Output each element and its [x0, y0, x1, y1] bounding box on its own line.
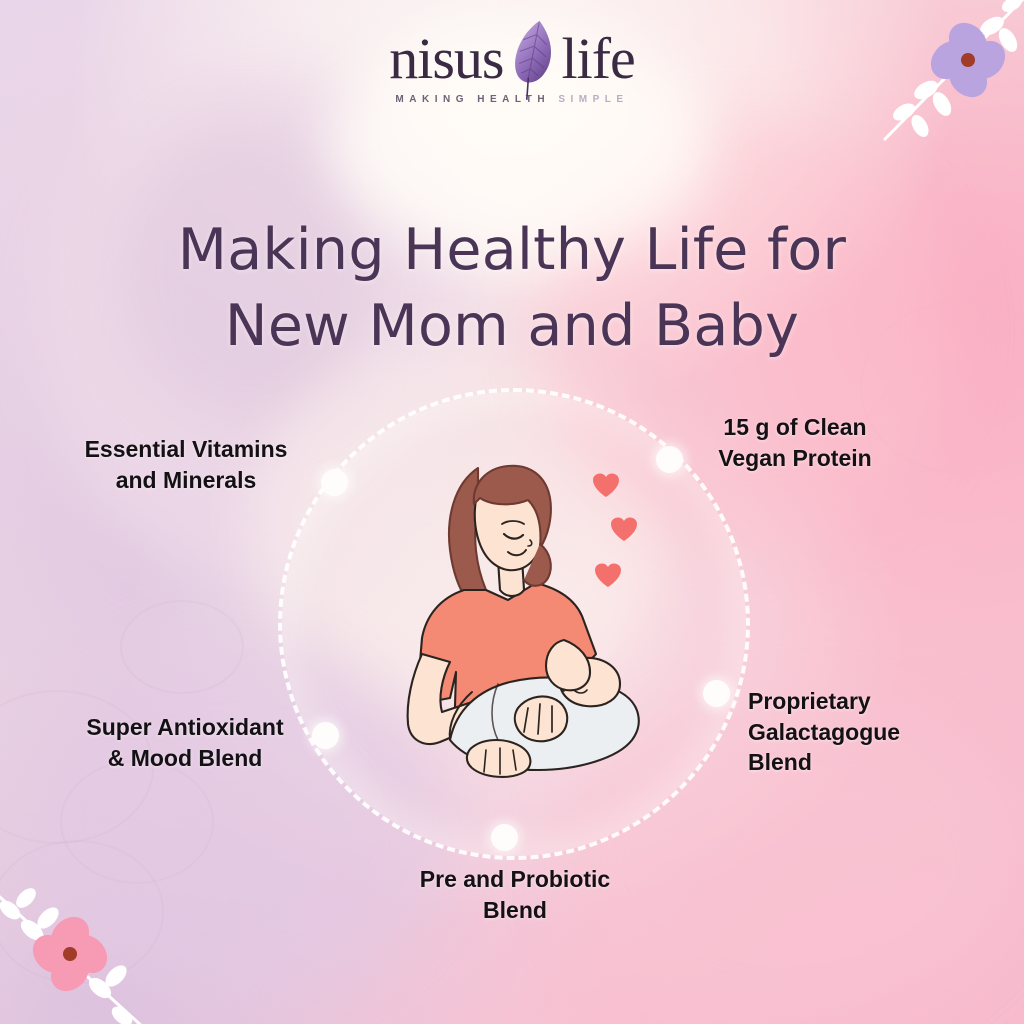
benefit-label-vitamins: Essential Vitamins and Minerals [48, 434, 324, 495]
brand-logo: nisus [0, 28, 1024, 105]
background-texture-swirl [0, 840, 164, 984]
benefit-label-antioxidant: Super Antioxidant & Mood Blend [40, 712, 330, 773]
corner-floral-bottom-left [0, 882, 148, 1024]
benefit-label-probiotic: Pre and Probiotic Blend [360, 864, 670, 925]
background-texture-swirl [120, 600, 244, 694]
logo-word-nisus: nisus [389, 30, 503, 88]
poster-canvas: nisus [0, 0, 1024, 1024]
benefit-label-galactagogue: Proprietary Galactagogue Blend [748, 686, 998, 778]
ring-node-vitamins[interactable] [321, 469, 348, 496]
leaf-icon [503, 16, 561, 102]
benefit-label-protein: 15 g of Clean Vegan Protein [668, 412, 922, 473]
page-title-line-1: Making Healthy Life for [178, 217, 847, 283]
flower-icon [25, 909, 115, 999]
ring-node-prebiotic[interactable] [491, 824, 518, 851]
logo-word-life: life [561, 30, 634, 88]
ring-node-galacta[interactable] [703, 680, 730, 707]
logo-tagline-dim: SIMPLE [558, 94, 628, 105]
heart-icon [593, 473, 637, 587]
page-title: Making Healthy Life for New Mom and Baby [0, 213, 1024, 365]
mother-holding-baby-illustration [368, 440, 664, 796]
page-title-line-2: New Mom and Baby [0, 289, 1024, 365]
background-texture-swirl [60, 760, 214, 884]
